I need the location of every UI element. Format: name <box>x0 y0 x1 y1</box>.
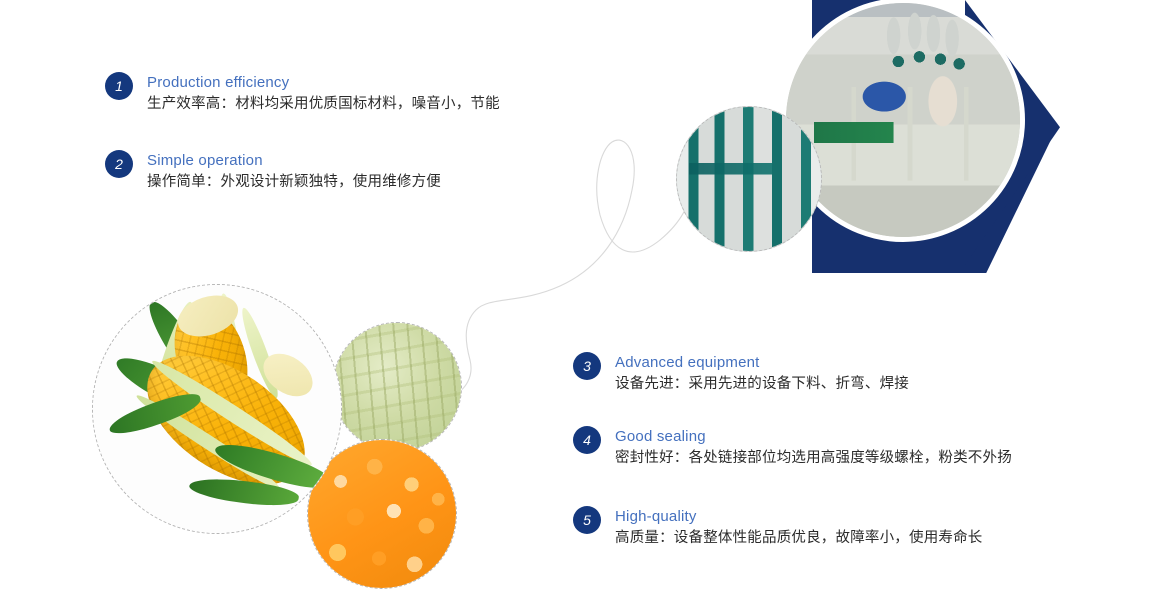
feature-title-5: High-quality <box>615 507 983 526</box>
feature-text-4: Good sealing 密封性好：各处链接部位均选用高强度等级螺栓，粉类不外扬 <box>615 426 1012 469</box>
feature-number-badge-5: 5 <box>573 506 601 534</box>
feature-desc-5: 高质量：设备整体性能品质优良，故障率小，使用寿命长 <box>615 527 983 549</box>
feature-number-badge-1: 1 <box>105 72 133 100</box>
feature-text-5: High-quality 高质量：设备整体性能品质优良，故障率小，使用寿命长 <box>615 506 983 549</box>
feature-number-badge-2: 2 <box>105 150 133 178</box>
feature-desc-3: 设备先进：采用先进的设备下料、折弯、焊接 <box>615 373 909 395</box>
corn-cob-photo <box>92 284 342 534</box>
hexagon-photo-group <box>660 0 1154 279</box>
feature-title-4: Good sealing <box>615 427 1012 446</box>
corn-photo-group <box>92 282 474 591</box>
feature-title-1: Production efficiency <box>147 73 500 92</box>
feature-number-badge-3: 3 <box>573 352 601 380</box>
corn-paste-photo <box>332 322 462 452</box>
teal-milling-machinery-photo <box>676 106 822 252</box>
feature-item-5[interactable]: 5 High-quality 高质量：设备整体性能品质优良，故障率小，使用寿命长 <box>573 506 983 549</box>
feature-title-2: Simple operation <box>147 151 441 170</box>
feature-item-2[interactable]: 2 Simple operation 操作简单：外观设计新颖独特，使用维修方便 <box>105 150 441 193</box>
feature-text-1: Production efficiency 生产效率高：材料均采用优质国标材料，… <box>147 72 500 115</box>
feature-title-3: Advanced equipment <box>615 353 909 372</box>
feature-desc-2: 操作简单：外观设计新颖独特，使用维修方便 <box>147 171 441 193</box>
feature-item-3[interactable]: 3 Advanced equipment 设备先进：采用先进的设备下料、折弯、焊… <box>573 352 909 395</box>
feature-text-2: Simple operation 操作简单：外观设计新颖独特，使用维修方便 <box>147 150 441 193</box>
feature-item-1[interactable]: 1 Production efficiency 生产效率高：材料均采用优质国标材… <box>105 72 500 115</box>
feature-number-badge-4: 4 <box>573 426 601 454</box>
flour-mill-plant-image <box>786 3 1020 237</box>
corn-paste-image <box>333 323 461 451</box>
corn-cob-image <box>93 285 341 533</box>
feature-desc-4: 密封性好：各处链接部位均选用高强度等级螺栓，粉类不外扬 <box>615 447 1012 469</box>
teal-milling-machinery-image <box>677 107 821 251</box>
feature-text-3: Advanced equipment 设备先进：采用先进的设备下料、折弯、焊接 <box>615 352 909 395</box>
infographic-canvas: 1 Production efficiency 生产效率高：材料均采用优质国标材… <box>0 0 1154 591</box>
feature-desc-1: 生产效率高：材料均采用优质国标材料，噪音小，节能 <box>147 93 500 115</box>
feature-item-4[interactable]: 4 Good sealing 密封性好：各处链接部位均选用高强度等级螺栓，粉类不… <box>573 426 1012 469</box>
